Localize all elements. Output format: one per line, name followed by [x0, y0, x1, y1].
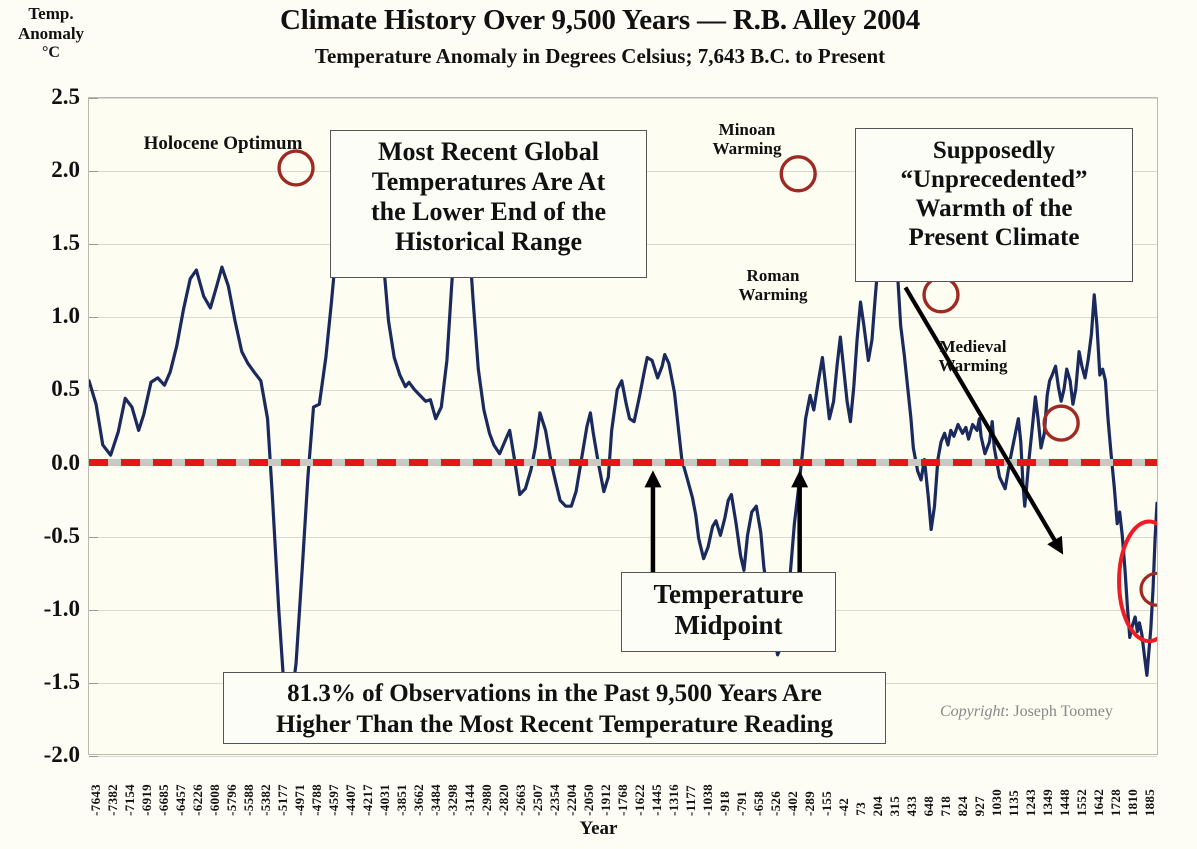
x-axis-tick-label: -4031: [377, 784, 393, 816]
callout-lower-end-line2: Temperatures Are At: [331, 167, 646, 197]
peak-highlight-circle: [279, 151, 313, 185]
x-axis-tick-label: 433: [904, 796, 920, 816]
label-roman-line2: Warming: [712, 285, 834, 304]
x-axis-tick-label: -6008: [207, 784, 223, 816]
x-axis-tick-label: 718: [938, 796, 954, 816]
x-axis-tick-label: 1448: [1057, 789, 1073, 816]
gridline: [89, 756, 1157, 757]
callout-lower-end-of-range: Most Recent Global Temperatures Are At t…: [330, 130, 647, 278]
x-axis-tick-label: 1642: [1091, 789, 1107, 816]
label-medieval-warming: Medieval Warming: [908, 337, 1038, 375]
x-axis-tick-label: -6226: [190, 784, 206, 816]
x-axis-tick-label: 648: [921, 796, 937, 816]
y-axis-tick-label: 2.0: [6, 157, 80, 183]
copyright-credit: Copyright: Joseph Toomey: [940, 703, 1113, 721]
y-axis-tick-label: 0.0: [6, 450, 80, 476]
x-axis-tick-label: -7154: [122, 784, 138, 816]
x-axis-tick-label: -7643: [88, 784, 104, 816]
x-axis-tick-label: -791: [734, 791, 750, 816]
x-axis-tick-label: -42: [836, 798, 852, 816]
callout-observations-line2: Higher Than the Most Recent Temperature …: [224, 710, 885, 741]
callout-observations-statistic: 81.3% of Observations in the Past 9,500 …: [223, 672, 886, 744]
y-axis-tick-label: -0.5: [6, 523, 80, 549]
x-axis-tick-label: -6685: [156, 784, 172, 816]
y-axis-tick-label: 1.0: [6, 303, 80, 329]
callout-midpoint-line2: Midpoint: [622, 610, 835, 641]
peak-highlight-circle: [1044, 406, 1078, 440]
x-axis-tick-label: -2354: [547, 784, 563, 816]
x-axis-tick-label: -289: [802, 791, 818, 816]
x-axis-tick-label: -1177: [683, 785, 699, 816]
x-axis-tick-labels: -7643-7382-7154-6919-6685-6457-6226-6008…: [88, 758, 1158, 816]
x-axis-tick-label: -3298: [445, 784, 461, 816]
y-axis-tick-label: -1.5: [6, 669, 80, 695]
y-axis-caption-line2: Anomaly: [8, 24, 94, 44]
x-axis-tick-label: -2980: [479, 784, 495, 816]
x-axis-tick-label: 1349: [1040, 789, 1056, 816]
label-minoan-line1: Minoan: [688, 120, 806, 139]
x-axis-tick-label: -1445: [649, 784, 665, 816]
x-axis-tick-label: -1912: [598, 784, 614, 816]
x-axis-tick-label: -4217: [360, 784, 376, 816]
x-axis-tick-label: -4597: [326, 784, 342, 816]
y-axis-tick-label: 0.5: [6, 376, 80, 402]
x-axis-tick-label: -5588: [241, 784, 257, 816]
x-axis-tick-label: -2820: [496, 784, 512, 816]
x-axis-tick-label: -1768: [615, 784, 631, 816]
x-axis-tick-label: -2050: [581, 784, 597, 816]
callout-observations-line1: 81.3% of Observations in the Past 9,500 …: [224, 679, 885, 710]
x-axis-tick-label: -1316: [666, 784, 682, 816]
x-axis-tick-label: -5796: [224, 784, 240, 816]
label-roman-line1: Roman: [712, 266, 834, 285]
x-axis-tick-label: -6919: [139, 784, 155, 816]
x-axis-tick-label: -1038: [700, 784, 716, 816]
x-axis-tick-label: -402: [785, 791, 801, 816]
x-axis-tick-label: 1728: [1108, 789, 1124, 816]
peak-highlight-circle: [781, 157, 815, 191]
x-axis-tick-label: -3662: [411, 784, 427, 816]
x-axis-tick-label: -5177: [275, 784, 291, 816]
y-axis-caption-line1: Temp.: [8, 4, 94, 24]
label-medieval-line2: Warming: [908, 356, 1038, 375]
x-axis-tick-label: -3144: [462, 784, 478, 816]
x-axis-tick-label: 1030: [989, 789, 1005, 816]
x-axis-tick-label: -155: [819, 791, 835, 816]
y-axis-tick-label: -1.0: [6, 596, 80, 622]
callout-lower-end-line3: the Lower End of the: [331, 197, 646, 227]
callout-midpoint-line1: Temperature: [622, 579, 835, 610]
x-axis-tick-label: 1243: [1023, 789, 1039, 816]
x-axis-tick-label: -2663: [513, 784, 529, 816]
x-axis-tick-label: 824: [955, 796, 971, 816]
x-axis-tick-label: -6457: [173, 784, 189, 816]
x-axis-tick-label: -1622: [632, 784, 648, 816]
callout-lower-end-line4: Historical Range: [331, 227, 646, 257]
y-axis-tick-mark: [89, 756, 98, 757]
callout-unprecedented-line2: “Unprecedented”: [856, 165, 1132, 194]
peak-highlight-circle: [924, 278, 958, 312]
y-axis-tick-label: 1.5: [6, 230, 80, 256]
x-axis-tick-label: -5382: [258, 784, 274, 816]
x-axis-tick-label: -2507: [530, 784, 546, 816]
x-axis-tick-label: -4788: [309, 784, 325, 816]
y-axis-caption: Temp. Anomaly °C: [8, 4, 94, 63]
x-axis-tick-label: -3851: [394, 784, 410, 816]
x-axis-tick-label: -918: [717, 791, 733, 816]
y-axis-caption-units: °C: [8, 44, 94, 63]
callout-unprecedented-line3: Warmth of the: [856, 194, 1132, 223]
label-holocene-optimum: Holocene Optimum: [118, 133, 328, 154]
x-axis-title: Year: [0, 818, 1197, 840]
x-axis-tick-label: 927: [972, 796, 988, 816]
chart-subtitle: Temperature Anomaly in Degrees Celsius; …: [150, 44, 1050, 69]
x-axis-tick-label: -4407: [343, 784, 359, 816]
x-axis-tick-label: 1885: [1142, 789, 1158, 816]
callout-lower-end-line1: Most Recent Global: [331, 137, 646, 167]
callout-unprecedented-line4: Present Climate: [856, 223, 1132, 252]
x-axis-tick-label: -2204: [564, 784, 580, 816]
x-axis-tick-label: 73: [853, 802, 869, 816]
callout-unprecedented-line1: Supposedly: [856, 136, 1132, 165]
x-axis-tick-label: -658: [751, 791, 767, 816]
x-axis-tick-label: -4971: [292, 784, 308, 816]
x-axis-tick-label: -3484: [428, 784, 444, 816]
y-axis-tick-label: -2.0: [6, 742, 80, 768]
x-axis-tick-label: -7382: [105, 784, 121, 816]
midpoint-arrow-left: [644, 470, 661, 574]
callout-temperature-midpoint: Temperature Midpoint: [621, 572, 836, 652]
copyright-name: Joseph Toomey: [1013, 703, 1112, 720]
x-axis-tick-label: 1135: [1006, 790, 1022, 816]
label-minoan-line2: Warming: [688, 139, 806, 158]
x-axis-tick-label: 204: [870, 796, 886, 816]
copyright-prefix: Copyright: [940, 703, 1005, 720]
label-minoan-warming: Minoan Warming: [688, 120, 806, 158]
y-axis-tick-label: 2.5: [6, 84, 80, 110]
x-axis-tick-label: 315: [887, 796, 903, 816]
chart-title: Climate History Over 9,500 Years — R.B. …: [150, 4, 1050, 37]
label-roman-warming: Roman Warming: [712, 266, 834, 304]
x-axis-tick-label: 1552: [1074, 789, 1090, 816]
label-medieval-line1: Medieval: [908, 337, 1038, 356]
callout-unprecedented-warmth: Supposedly “Unprecedented” Warmth of the…: [855, 128, 1133, 282]
x-axis-tick-label: 1810: [1125, 789, 1141, 816]
x-axis-tick-label: -526: [768, 791, 784, 816]
